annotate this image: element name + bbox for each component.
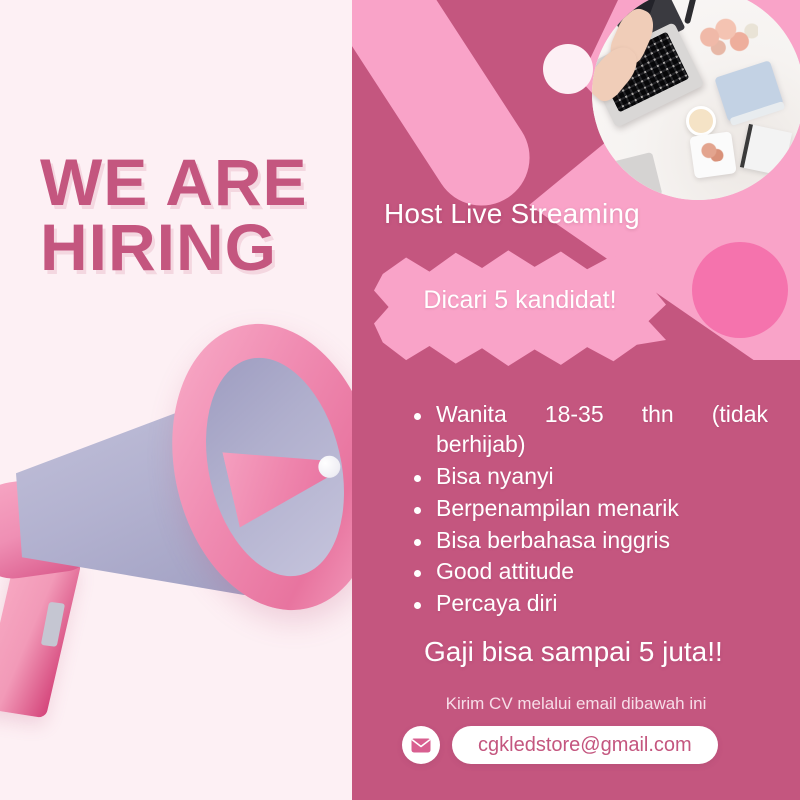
headline-line-1: WE ARE: [40, 145, 308, 219]
megaphone-bell-inner: [186, 344, 365, 590]
right-panel: Host Live Streaming Dicari 5 kandidat! W…: [352, 0, 800, 800]
list-item: Percaya diri: [410, 589, 768, 619]
job-title: Host Live Streaming: [384, 198, 774, 230]
list-item: Berpenampilan menarik: [410, 494, 768, 524]
candidate-count-badge: Dicari 5 kandidat!: [374, 248, 666, 366]
salary-text: Gaji bisa sampai 5 juta!!: [424, 636, 723, 668]
candidate-count-label: Dicari 5 kandidat!: [374, 286, 666, 315]
cv-instruction-text: Kirim CV melalui email dibawah ini: [404, 694, 748, 714]
list-item: Bisa berbahasa inggris: [410, 526, 768, 556]
email-address-text: cgkledstore@gmail.com: [478, 734, 692, 757]
right-content: Host Live Streaming Dicari 5 kandidat! W…: [352, 0, 800, 800]
left-panel: WE ARE HIRING: [0, 0, 352, 800]
list-item: Wanita 18-35 thn (tidak berhijab): [410, 400, 768, 460]
hiring-poster: WE ARE HIRING: [0, 0, 800, 800]
headline-line-2: HIRING: [40, 215, 340, 280]
email-address-pill[interactable]: cgkledstore@gmail.com: [452, 726, 718, 764]
requirements-list: Wanita 18-35 thn (tidak berhijab) Bisa n…: [410, 400, 768, 621]
megaphone-handle-button: [41, 602, 65, 647]
email-contact-row[interactable]: cgkledstore@gmail.com: [402, 726, 718, 764]
envelope-icon: [402, 726, 440, 764]
page-title: WE ARE HIRING: [40, 150, 340, 279]
list-item: Bisa nyanyi: [410, 462, 768, 492]
list-item: Good attitude: [410, 557, 768, 587]
